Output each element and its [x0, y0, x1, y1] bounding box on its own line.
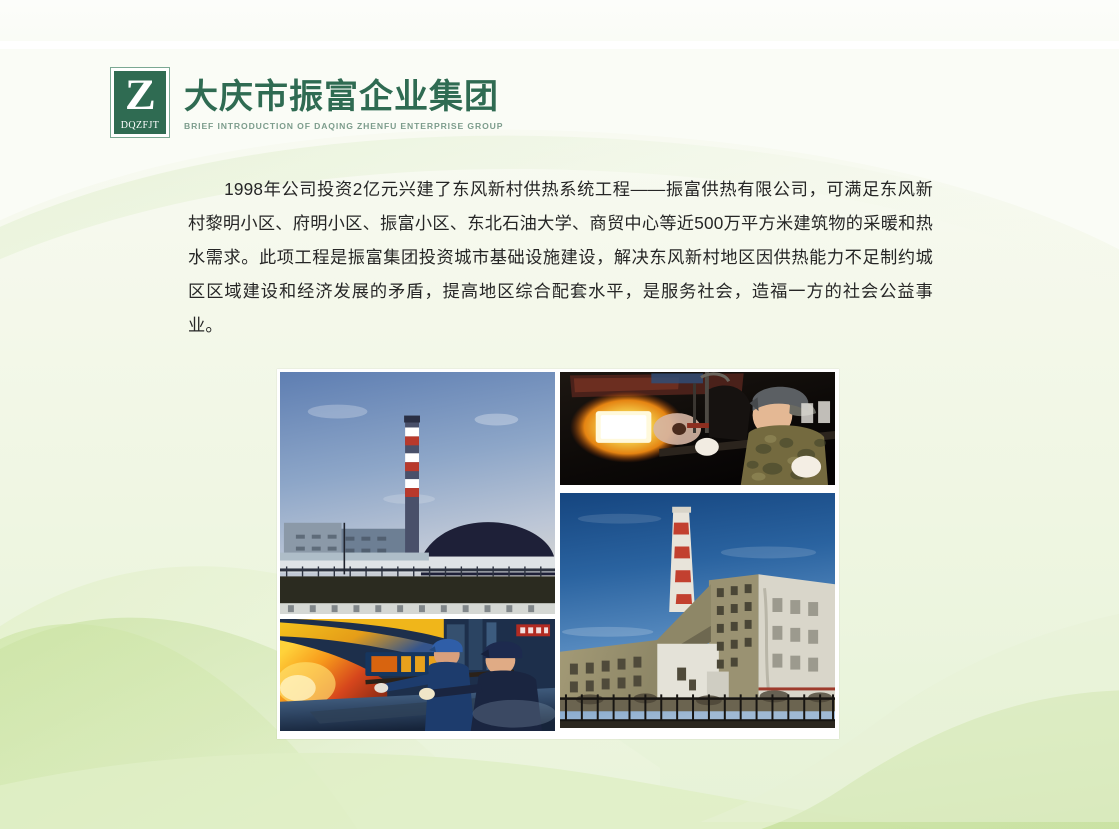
wave-bottom-band [0, 753, 1119, 829]
plant-exterior-illustration [280, 372, 555, 614]
photo-workers-control [279, 618, 556, 732]
chimney [404, 416, 420, 567]
page-canvas: Z DQZFJT 大庆市振富企业集团 BRIEF INTRODUCTION OF… [0, 0, 1119, 829]
intro-paragraph: 1998年公司投资2亿元兴建了东风新村供热系统工程——振富供热有限公司，可满足东… [188, 172, 933, 342]
brand-header: Z DQZFJT 大庆市振富企业集团 BRIEF INTRODUCTION OF… [110, 67, 503, 138]
brand-text-block: 大庆市振富企业集团 BRIEF INTRODUCTION OF DAQING Z… [184, 67, 503, 131]
photo-plant-exterior [279, 371, 556, 615]
logo-inner-square: Z DQZFJT [114, 71, 166, 134]
top-white-area [0, 0, 1119, 42]
logo-abbreviation: DQZFJT [114, 120, 166, 131]
logo-letter-z: Z [125, 74, 155, 117]
photo-collage [277, 369, 839, 739]
furnace-inspect-illustration [560, 372, 835, 485]
boiler-house-illustration [560, 493, 835, 728]
top-divider-band [0, 41, 1119, 49]
workers-control-illustration [280, 619, 555, 731]
photo-furnace-inspect [559, 371, 836, 486]
company-title: 大庆市振富企业集团 [184, 80, 503, 114]
company-logo: Z DQZFJT [110, 67, 170, 138]
company-subtitle: BRIEF INTRODUCTION OF DAQING ZHENFU ENTE… [184, 121, 503, 131]
photo-boiler-house [559, 492, 836, 729]
